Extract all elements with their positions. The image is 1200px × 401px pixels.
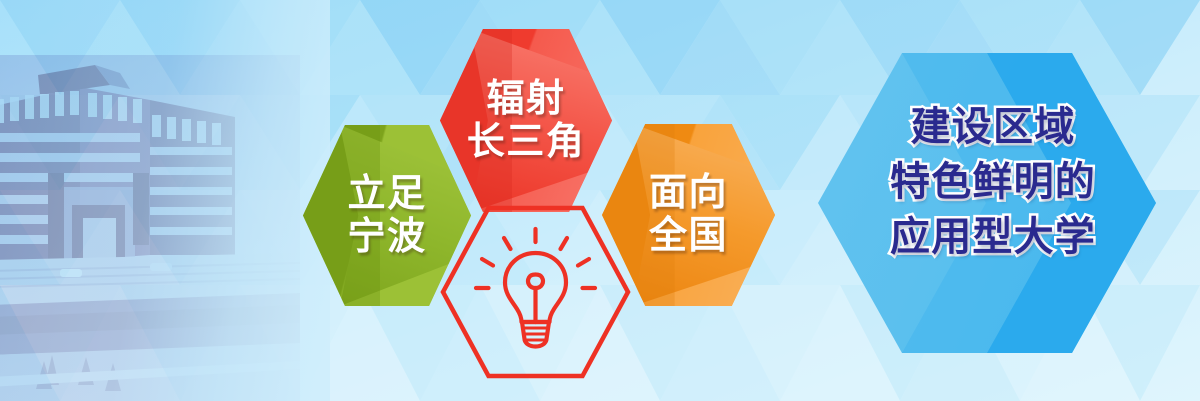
hex-tile-label: 立足 宁波 — [347, 173, 426, 258]
hex-tile-label: 辐射 长三角 — [467, 78, 586, 163]
banner-root: 立足 宁波 辐射 长三角 面向 全国 — [0, 0, 1200, 401]
hex-tile-label: 面向 全国 — [649, 172, 728, 257]
campus-building-photo — [0, 55, 300, 401]
lightbulb-icon — [476, 229, 595, 347]
lightbulb-outline-hexagon[interactable] — [441, 206, 630, 378]
headline-block: 建设区域 特色鲜明的 应用型大学 — [848, 100, 1138, 266]
